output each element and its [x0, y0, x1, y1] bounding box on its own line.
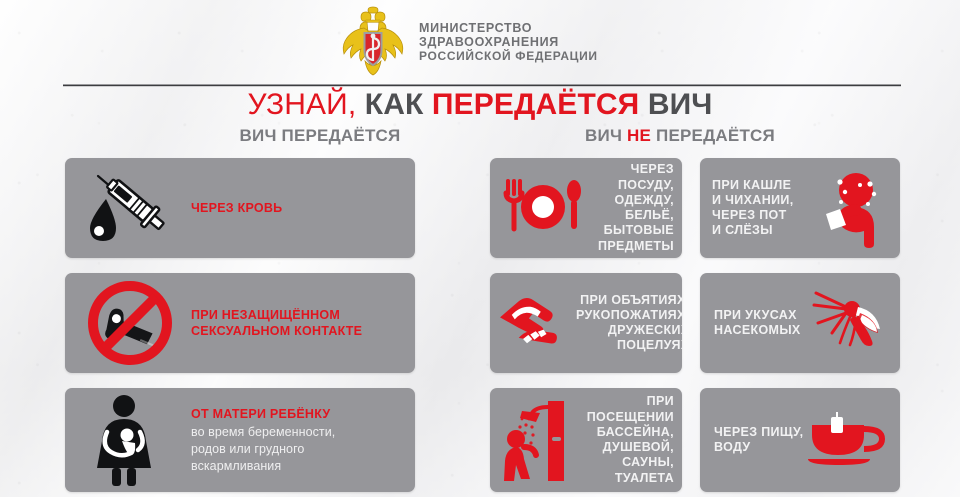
subtitle-right-part-2: НЕ: [627, 126, 651, 145]
russian-coat-of-arms-icon: [338, 6, 408, 78]
card-text-unprotected-sex: ПРИ НЕЗАЩИЩЁННОМ СЕКСУАЛЬНОМ КОНТАКТЕ: [185, 307, 362, 340]
title-part-3: ПЕРЕДАЁТСЯ: [432, 88, 639, 121]
sneezing-person-icon: [812, 168, 896, 248]
ministry-line-3: РОССИЙСКОЙ ФЕДЕРАЦИИ: [419, 50, 598, 64]
header-divider: [63, 84, 901, 87]
title-part-2: КАК: [365, 88, 424, 121]
ministry-line-1: МИНИСТЕРСТВО: [419, 21, 598, 36]
page-title: УЗНАЙ, КАК ПЕРЕДАЁТСЯ ВИЧ: [0, 88, 960, 122]
handshake-icon: [496, 286, 576, 360]
card-text-handshake: ПРИ ОБЪЯТИЯХ, РУКОПОЖАТИЯХ, ДРУЖЕСКИХ ПО…: [576, 293, 682, 354]
syringe-blood-drop-icon: [75, 162, 185, 254]
note-mother-to-child: во время беременности, родов или грудног…: [191, 424, 335, 474]
headline-blood: ЧЕРЕЗ КРОВЬ: [191, 200, 282, 217]
ministry-brand: МИНИСТЕРСТВО ЗДРАВООХРАНЕНИЯ РОССИЙСКОЙ …: [338, 6, 598, 78]
card-transmitted-blood[interactable]: ЧЕРЕЗ КРОВЬ: [65, 158, 415, 258]
card-transmitted-unprotected-sex[interactable]: ПРИ НЕЗАЩИЩЁННОМ СЕКСУАЛЬНОМ КОНТАКТЕ: [65, 273, 415, 373]
card-not-transmitted-pool[interactable]: ПРИ ПОСЕЩЕНИИ БАССЕЙНА, ДУШЕВОЙ, САУНЫ, …: [490, 388, 682, 492]
card-text-mother-to-child: ОТ МАТЕРИ РЕБЁНКУ во время беременности,…: [185, 406, 335, 475]
ministry-title: МИНИСТЕРСТВО ЗДРАВООХРАНЕНИЯ РОССИЙСКОЙ …: [419, 21, 598, 64]
subtitle-right-part-1: ВИЧ: [585, 126, 622, 145]
headline-mother-to-child: ОТ МАТЕРИ РЕБЁНКУ: [191, 406, 335, 423]
card-text-food-water: ЧЕРЕЗ ПИЩУ, ВОДУ: [714, 425, 806, 456]
column-subtitles: ВИЧ ПЕРЕДАЁТСЯ ВИЧ НЕ ПЕРЕДАЁТСЯ: [0, 126, 960, 150]
header: МИНИСТЕРСТВО ЗДРАВООХРАНЕНИЯ РОССИЙСКОЙ …: [0, 0, 960, 84]
title-part-1: УЗНАЙ,: [248, 88, 357, 121]
card-not-transmitted-handshake[interactable]: ПРИ ОБЪЯТИЯХ, РУКОПОЖАТИЯХ, ДРУЖЕСКИХ ПО…: [490, 273, 682, 373]
card-text-blood: ЧЕРЕЗ КРОВЬ: [185, 200, 282, 217]
card-not-transmitted-insect-bites[interactable]: ПРИ УКУСАХ НАСЕКОМЫХ: [700, 273, 900, 373]
card-not-transmitted-food-water[interactable]: ЧЕРЕЗ ПИЩУ, ВОДУ: [700, 388, 900, 492]
shower-person-icon: [496, 397, 576, 483]
mosquito-icon: [802, 283, 894, 363]
ministry-line-2: ЗДРАВООХРАНЕНИЯ: [419, 35, 598, 50]
card-transmitted-mother-to-child[interactable]: ОТ МАТЕРИ РЕБЁНКУ во время беременности,…: [65, 388, 415, 492]
card-not-transmitted-cough[interactable]: ПРИ КАШЛЕ И ЧИХАНИИ, ЧЕРЕЗ ПОТ И СЛЁЗЫ: [700, 158, 900, 258]
headline-unprotected-sex: ПРИ НЕЗАЩИЩЁННОМ СЕКСУАЛЬНОМ КОНТАКТЕ: [191, 307, 362, 340]
no-condom-prohibition-icon: [75, 277, 185, 369]
card-text-cough: ПРИ КАШЛЕ И ЧИХАНИИ, ЧЕРЕЗ ПОТ И СЛЁЗЫ: [712, 178, 812, 239]
teacup-icon: [806, 409, 890, 471]
subtitle-not-transmitted: ВИЧ НЕ ПЕРЕДАЁТСЯ: [460, 126, 900, 146]
subtitle-right-part-3: ПЕРЕДАЁТСЯ: [656, 126, 775, 145]
card-text-insect-bites: ПРИ УКУСАХ НАСЕКОМЫХ: [714, 308, 802, 339]
title-part-4: ВИЧ: [648, 88, 713, 121]
mother-and-baby-icon: [75, 394, 185, 486]
card-not-transmitted-dishes[interactable]: ЧЕРЕЗ ПОСУДУ, ОДЕЖДУ, БЕЛЬЁ, БЫТОВЫЕ ПРЕ…: [490, 158, 682, 258]
plate-fork-spoon-icon: [496, 171, 584, 245]
infographic-root: МИНИСТЕРСТВО ЗДРАВООХРАНЕНИЯ РОССИЙСКОЙ …: [0, 0, 960, 497]
card-text-pool: ПРИ ПОСЕЩЕНИИ БАССЕЙНА, ДУШЕВОЙ, САУНЫ, …: [576, 394, 674, 486]
card-text-dishes: ЧЕРЕЗ ПОСУДУ, ОДЕЖДУ, БЕЛЬЁ, БЫТОВЫЕ ПРЕ…: [584, 162, 674, 254]
